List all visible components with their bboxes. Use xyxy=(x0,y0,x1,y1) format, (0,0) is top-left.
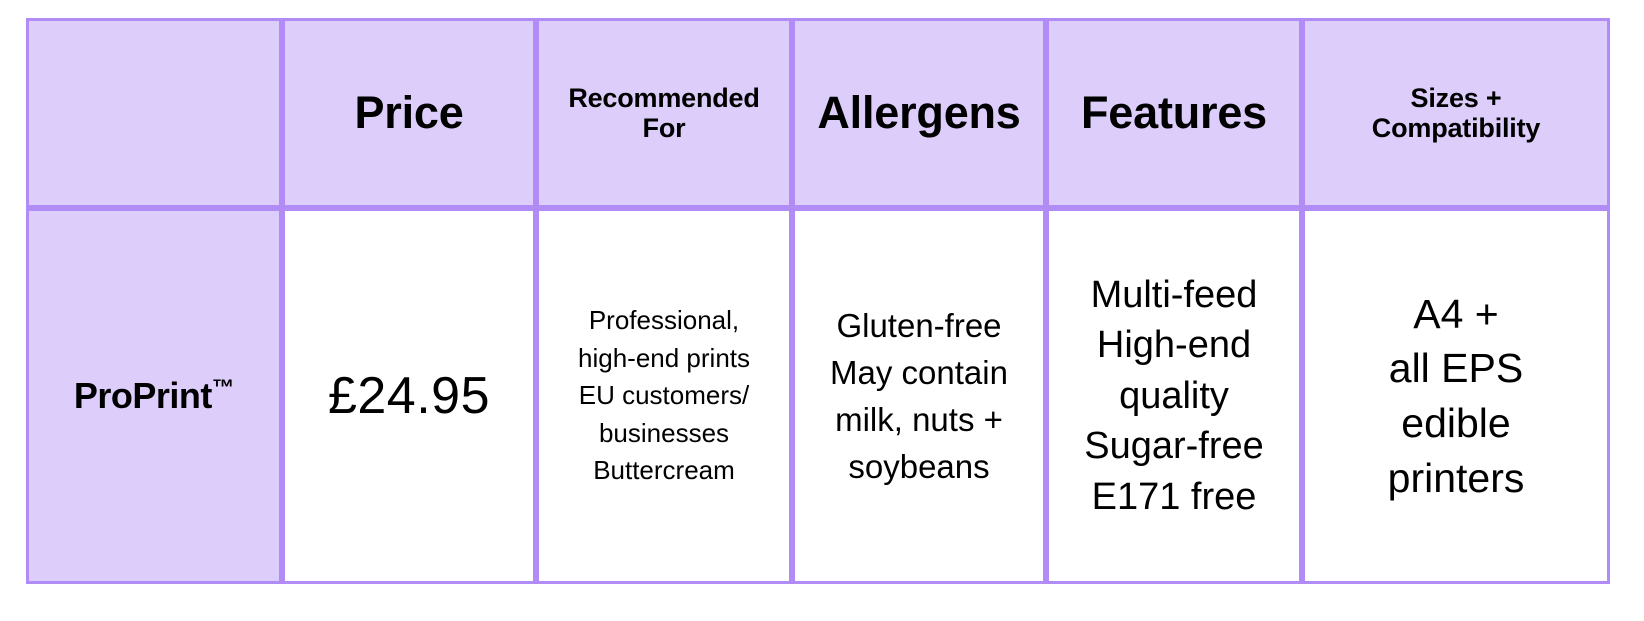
product-comparison-table: Price Recommended For Allergens Features… xyxy=(26,18,1610,584)
cell-line: soybeans xyxy=(795,443,1043,490)
cell-line: quality xyxy=(1049,371,1299,422)
header-line: Sizes + xyxy=(1305,83,1607,113)
cell-line: A4 + xyxy=(1305,287,1607,342)
allergens-lines: Gluten-free May contain milk, nuts + soy… xyxy=(795,302,1043,491)
cell-line: Professional, xyxy=(539,302,789,339)
cell-line: edible xyxy=(1305,396,1607,451)
trademark-symbol: ™ xyxy=(212,375,234,400)
recommended-for-lines: Professional, high-end prints EU custome… xyxy=(539,302,789,489)
comparison-table-page: Price Recommended For Allergens Features… xyxy=(0,0,1644,621)
table-body: ProPrint™ £24.95 Professional, high-end … xyxy=(26,208,1610,584)
cell-line: printers xyxy=(1305,451,1607,506)
sizes-compatibility-lines: A4 + all EPS edible printers xyxy=(1305,287,1607,505)
table-row: ProPrint™ £24.95 Professional, high-end … xyxy=(26,208,1610,584)
cell-line: E171 free xyxy=(1049,472,1299,523)
header-sizes-compatibility: Sizes + Compatibility xyxy=(1302,18,1610,208)
header-features: Features xyxy=(1046,18,1302,208)
header-allergens: Allergens xyxy=(792,18,1046,208)
table-header-row: Price Recommended For Allergens Features… xyxy=(26,18,1610,208)
header-line: For xyxy=(539,113,789,143)
cell-allergens: Gluten-free May contain milk, nuts + soy… xyxy=(792,208,1046,584)
header-recommended-for-lines: Recommended For xyxy=(539,83,789,143)
table-header: Price Recommended For Allergens Features… xyxy=(26,18,1610,208)
cell-line: businesses xyxy=(539,415,789,452)
header-blank xyxy=(26,18,282,208)
header-line: Recommended xyxy=(539,83,789,113)
cell-line: EU customers/ xyxy=(539,377,789,414)
header-line: Compatibility xyxy=(1305,113,1607,143)
cell-brand-name: ProPrint™ xyxy=(26,208,282,584)
cell-features: Multi-feed High-end quality Sugar-free E… xyxy=(1046,208,1302,584)
cell-line: Sugar-free xyxy=(1049,421,1299,472)
cell-line: milk, nuts + xyxy=(795,396,1043,443)
cell-line: Multi-feed xyxy=(1049,270,1299,321)
cell-price: £24.95 xyxy=(282,208,536,584)
features-lines: Multi-feed High-end quality Sugar-free E… xyxy=(1049,270,1299,523)
cell-line: High-end xyxy=(1049,320,1299,371)
cell-recommended-for: Professional, high-end prints EU custome… xyxy=(536,208,792,584)
brand-name-text: ProPrint xyxy=(74,375,212,416)
cell-sizes-compatibility: A4 + all EPS edible printers xyxy=(1302,208,1610,584)
header-recommended-for: Recommended For xyxy=(536,18,792,208)
cell-line: Buttercream xyxy=(539,452,789,489)
cell-line: all EPS xyxy=(1305,341,1607,396)
cell-line: Gluten-free xyxy=(795,302,1043,349)
header-sizes-compatibility-lines: Sizes + Compatibility xyxy=(1305,83,1607,143)
cell-line: high-end prints xyxy=(539,340,789,377)
header-price: Price xyxy=(282,18,536,208)
cell-line: May contain xyxy=(795,349,1043,396)
